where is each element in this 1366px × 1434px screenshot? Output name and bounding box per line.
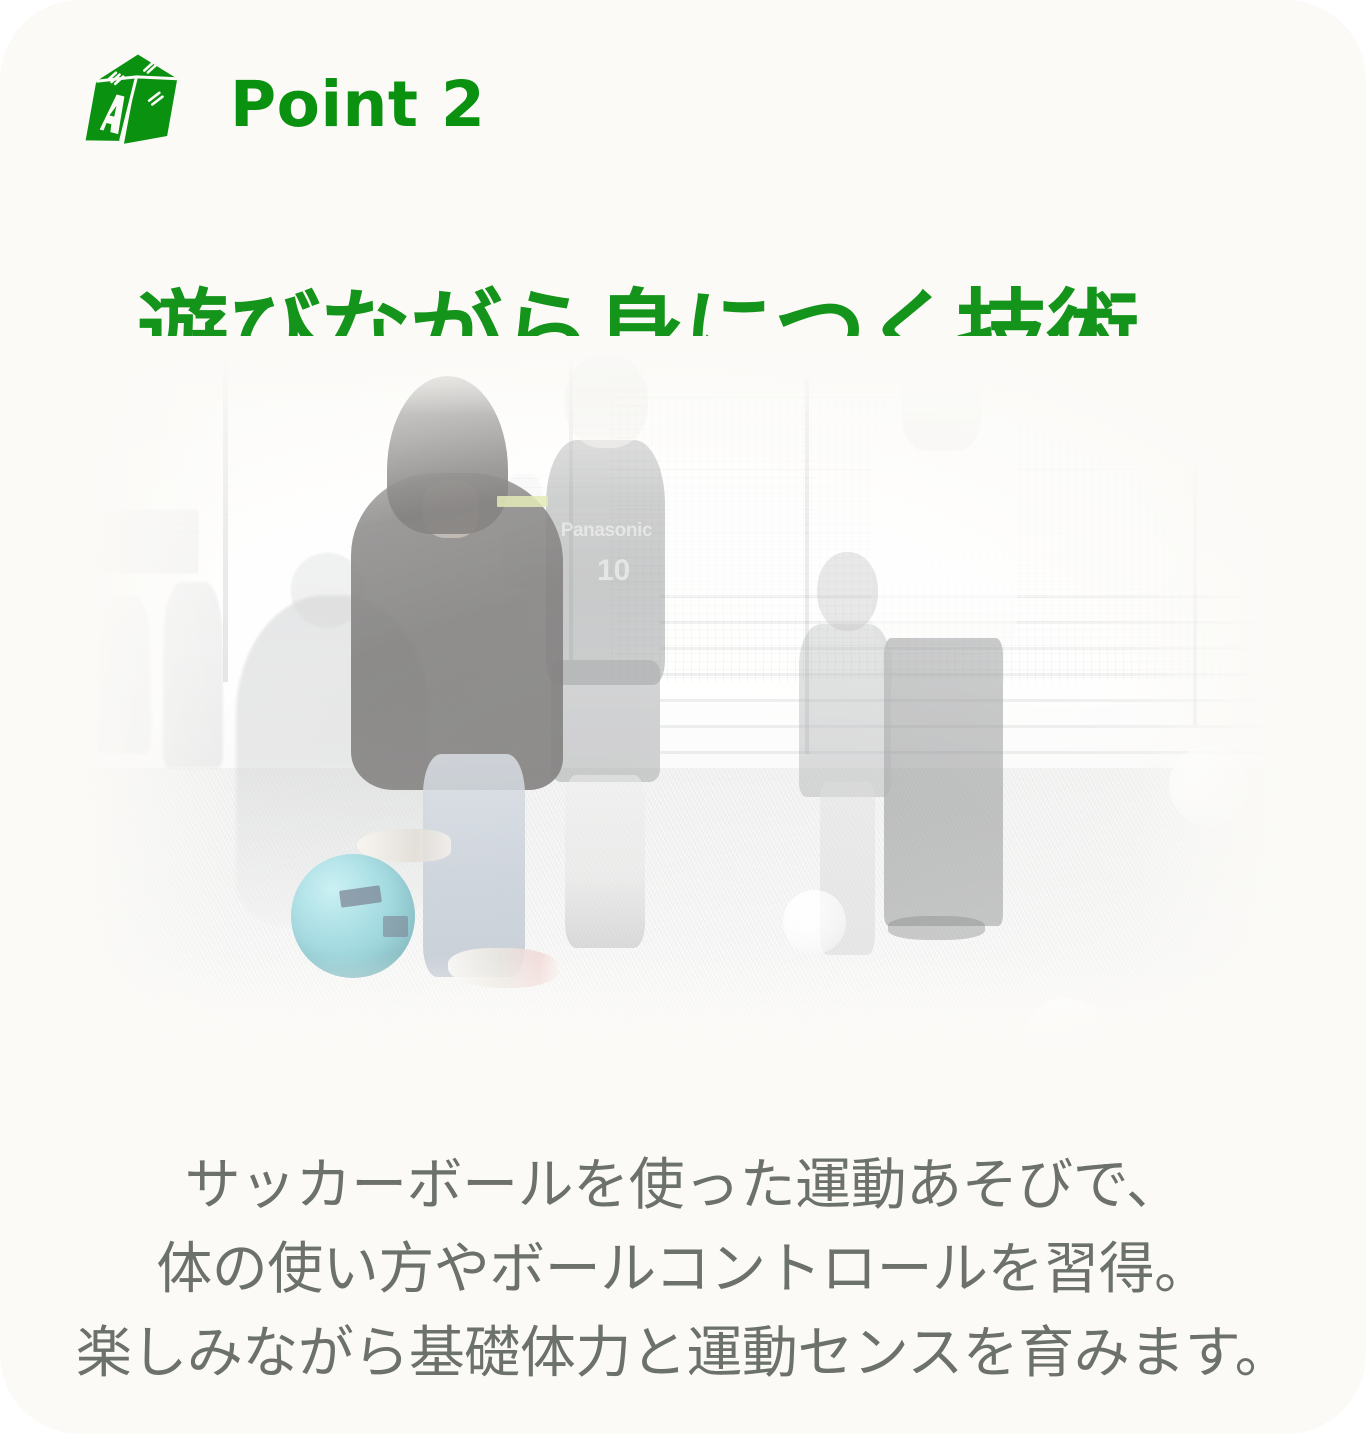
isometric-cube-a-logo-icon [74, 48, 202, 160]
girl-sneaker [448, 948, 560, 988]
background-spectator [163, 581, 224, 768]
white-soccer-ball [783, 890, 846, 953]
jersey-number-text: 10 [589, 556, 637, 599]
body-line: サッカーボールを使った運動あそびで、 [0, 1144, 1366, 1228]
cyan-ball-patch [383, 916, 407, 938]
support-pole [1193, 365, 1197, 725]
sweatshirt-print-tag [497, 496, 548, 507]
card-header: Point 2 [74, 48, 485, 160]
support-pole [223, 350, 228, 681]
boy-in-jersey-head [565, 354, 647, 448]
point-label: Point 2 [230, 73, 485, 136]
scoreboard [90, 509, 199, 574]
jersey-sponsor-text: Panasonic [556, 520, 658, 542]
adult-woman-skirt [884, 638, 1003, 926]
white-soccer-ball [1169, 746, 1249, 825]
adult-woman-shoes [888, 916, 985, 940]
body-line: 楽しみながら基礎体力と運動センスを育みます。 [0, 1312, 1366, 1396]
boy-in-jersey-legs [565, 775, 645, 948]
girl-jeans [423, 754, 525, 977]
kids-soccer-practice-photo: Panasonic 10 [78, 336, 1290, 1056]
photo-scene: Panasonic 10 [78, 336, 1290, 1056]
body-line: 体の使い方やボールコントロールを習得。 [0, 1228, 1366, 1312]
body-description: サッカーボールを使った運動あそびで、 体の使い方やボールコントロールを習得。 楽… [0, 1144, 1366, 1396]
background-spectator [96, 595, 151, 753]
small-boy-body [799, 624, 891, 797]
point-card: Point 2 遊びながら身につく技術。 [0, 0, 1366, 1434]
adult-woman-hair [902, 336, 981, 451]
boy-in-jersey-shorts [551, 660, 660, 782]
small-boy-head [817, 552, 878, 631]
